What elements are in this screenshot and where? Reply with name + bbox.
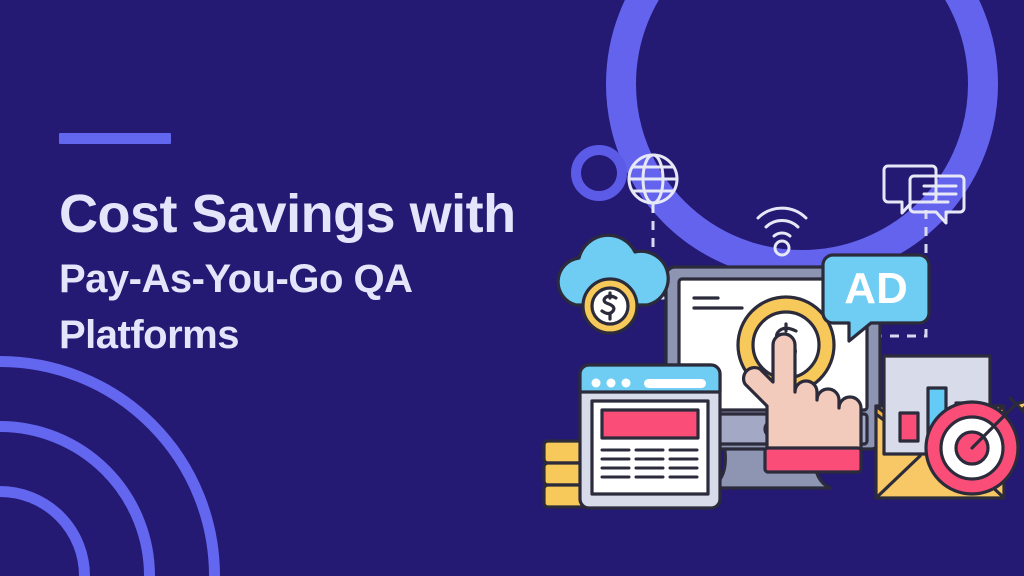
corner-arc-inner [0,486,90,576]
illustration: .ol { stroke:#2B2B3B; stroke-width:3.2; … [528,148,1024,516]
globe-icon [629,155,677,211]
chat-bubbles-icon [884,166,964,223]
target-arrow-icon [926,398,1024,494]
banner-root: Cost Savings with Pay-As-You-Go QA Platf… [0,0,1024,576]
accent-bar [59,133,171,144]
corner-arc-middle [0,421,155,576]
corner-arc-outer [0,356,220,576]
wifi-icon [758,208,806,255]
browser-window-icon [580,365,720,508]
ad-bubble-label: AD [844,264,908,313]
cloud-with-coin-icon [558,235,668,333]
